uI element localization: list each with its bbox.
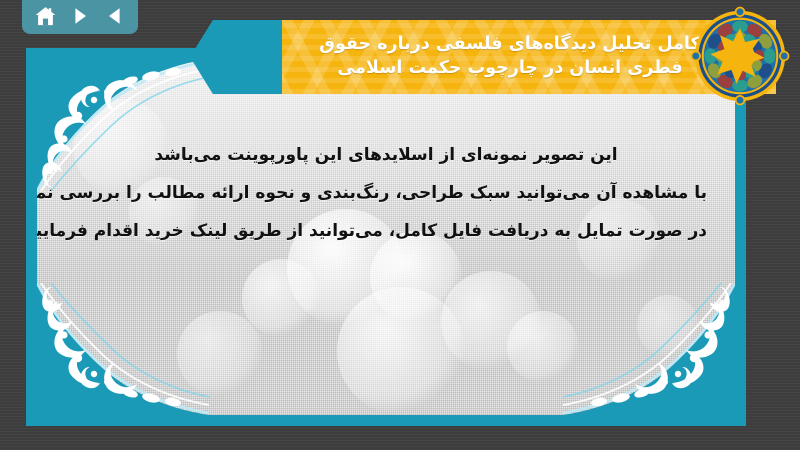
slide-frame: این تصویر نمونه‌ای از اسلایدهای این پاور… — [26, 48, 746, 426]
title-line-1: کامل تحلیل دیدگاه‌های فلسفی درباره حقوق — [319, 34, 700, 54]
ornamental-medallion-icon — [688, 4, 792, 108]
body-line: در صورت تمایل به دریافت فایل کامل، می‌تو… — [65, 223, 707, 240]
body-line: با مشاهده آن می‌توانید سبک طراحی، رنگ‌بن… — [65, 185, 707, 202]
navigation-toolbar — [22, 0, 138, 34]
slide-viewer: این تصویر نمونه‌ای از اسلایدهای این پاور… — [0, 0, 800, 450]
title-line-2: فطری انسان در چارچوب حکمت اسلامی — [337, 58, 682, 78]
body-line: این تصویر نمونه‌ای از اسلایدهای این پاور… — [65, 147, 707, 164]
next-triangle-icon — [69, 5, 91, 27]
previous-slide-button[interactable] — [100, 3, 130, 29]
home-house-icon — [34, 5, 57, 28]
home-button[interactable] — [30, 3, 60, 29]
next-slide-button[interactable] — [65, 3, 95, 29]
slide-content-area: این تصویر نمونه‌ای از اسلایدهای این پاور… — [37, 59, 735, 415]
slide-body-text: این تصویر نمونه‌ای از اسلایدهای این پاور… — [65, 147, 707, 240]
previous-triangle-icon — [104, 5, 126, 27]
